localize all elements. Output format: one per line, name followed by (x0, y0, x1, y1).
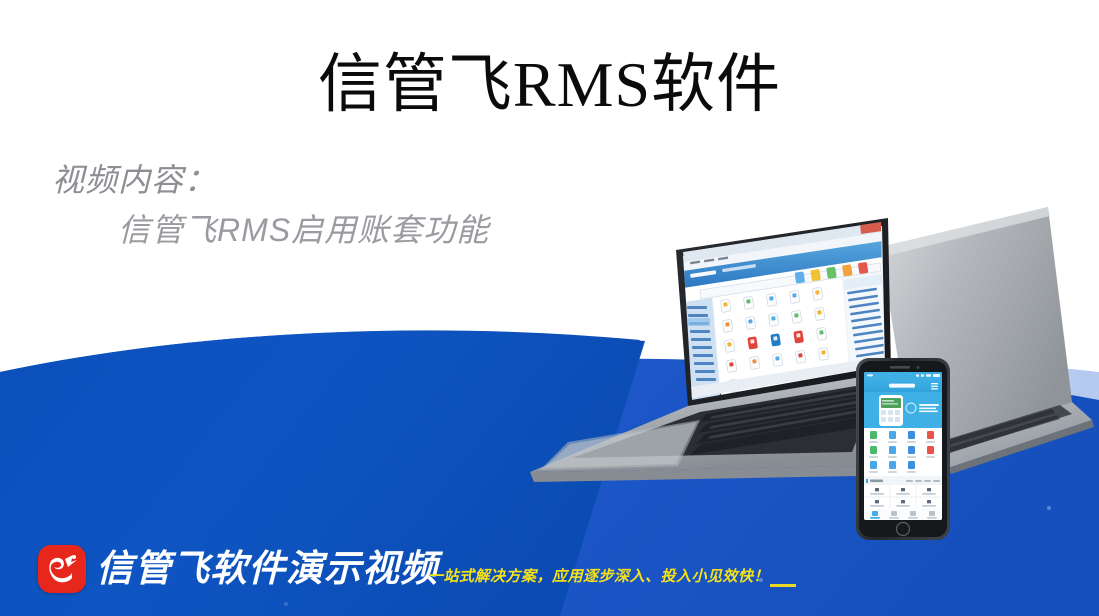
laptop-open-front (530, 218, 891, 482)
xinguanfei-bird-logo (38, 545, 86, 593)
canvas-dot-artifact-bottom (284, 602, 288, 606)
bottom-banner: 信管飞软件演示视频 一站式解决方案，应用逐步深入、投入小见效快！ (0, 538, 1099, 616)
banner-tagline: 一站式解决方案，应用逐步深入、投入小见效快！ (428, 566, 769, 588)
banner-divider-dash (770, 584, 796, 587)
banner-dot-artifact (759, 578, 763, 582)
phone-app-title (889, 384, 915, 388)
earpiece-speaker (890, 366, 910, 369)
canvas-dot-artifact-right (1047, 506, 1051, 510)
device-illustration (0, 0, 1099, 616)
phone-screen-content (864, 372, 942, 520)
banner-brand-text: 信管飞软件演示视频 (96, 544, 438, 594)
slide-canvas: 信管飞RMS软件 视频内容： 信管飞RMS启用账套功能 (0, 0, 1099, 616)
smartphone (856, 358, 950, 540)
front-camera-icon (916, 366, 919, 369)
